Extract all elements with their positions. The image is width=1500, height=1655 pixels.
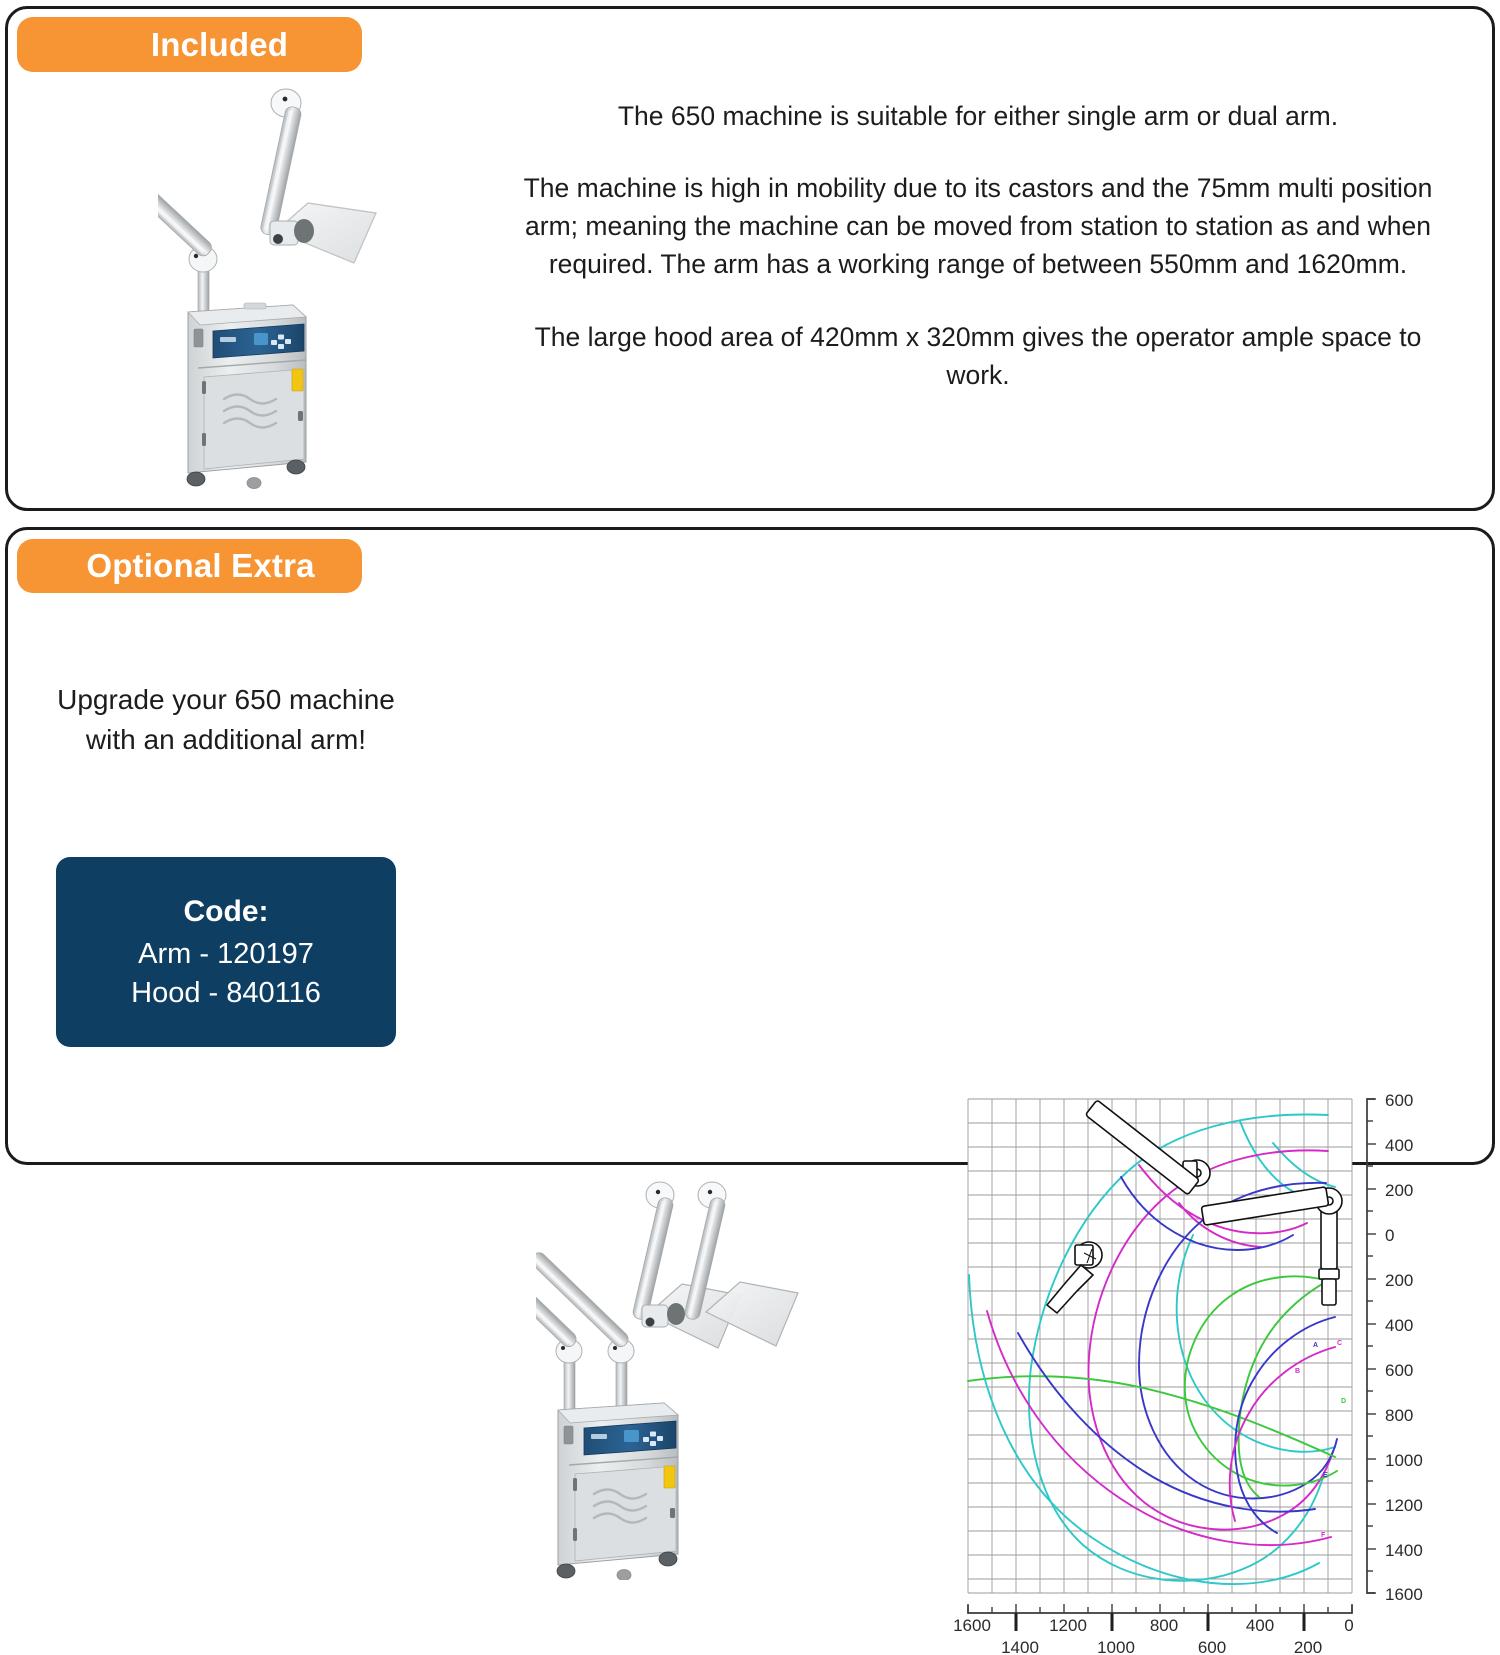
optional-extra-badge: Optional Extra: [17, 539, 362, 593]
svg-text:1600: 1600: [953, 1616, 991, 1635]
svg-text:1400: 1400: [1385, 1541, 1423, 1560]
included-paragraph-1: The 650 machine is suitable for either s…: [513, 97, 1443, 135]
optional-extra-panel: Optional Extra Upgrade your 650 machine …: [5, 527, 1495, 1165]
svg-text:1400: 1400: [1001, 1638, 1039, 1655]
x-axis-labels-lower: 1400 1000 600 200: [1001, 1638, 1322, 1655]
svg-text:800: 800: [1385, 1406, 1413, 1425]
curve-label-B: B: [1295, 1368, 1300, 1375]
single-arm-machine-image: [158, 81, 408, 496]
y-axis-labels: 600 400 200 0 200 400 600 800 1000 1200 …: [1385, 1091, 1423, 1604]
svg-text:1200: 1200: [1049, 1616, 1087, 1635]
svg-text:1200: 1200: [1385, 1496, 1423, 1515]
svg-text:400: 400: [1385, 1136, 1413, 1155]
curve-label-E: E: [1323, 1472, 1328, 1479]
svg-text:1600: 1600: [1385, 1585, 1423, 1604]
code-box-title: Code:: [184, 892, 269, 932]
included-description: The 650 machine is suitable for either s…: [513, 97, 1443, 394]
svg-text:200: 200: [1294, 1638, 1322, 1655]
dual-arm-machine-image: [536, 1162, 836, 1580]
svg-text:0: 0: [1385, 1226, 1394, 1245]
included-paragraph-2: The machine is high in mobility due to i…: [513, 169, 1443, 283]
svg-text:0: 0: [1344, 1616, 1353, 1635]
svg-text:800: 800: [1150, 1616, 1178, 1635]
x-axis-labels-upper: 1600 1200 800 400 0: [953, 1616, 1354, 1635]
svg-text:600: 600: [1385, 1091, 1413, 1110]
curve-label-D: D: [1341, 1398, 1346, 1405]
included-paragraph-3: The large hood area of 420mm x 320mm giv…: [513, 318, 1443, 394]
svg-text:200: 200: [1385, 1271, 1413, 1290]
svg-text:200: 200: [1385, 1181, 1413, 1200]
code-box-arm: Arm - 120197: [138, 935, 314, 974]
svg-text:600: 600: [1385, 1361, 1413, 1380]
included-badge: Included: [17, 17, 362, 72]
upgrade-description: Upgrade your 650 machine with an additio…: [56, 680, 396, 760]
svg-text:1000: 1000: [1385, 1451, 1423, 1470]
included-panel: Included: [5, 6, 1495, 511]
curve-label-C: C: [1337, 1340, 1342, 1347]
svg-text:400: 400: [1246, 1616, 1274, 1635]
svg-text:600: 600: [1198, 1638, 1226, 1655]
curve-label-F: F: [1321, 1532, 1326, 1539]
svg-text:400: 400: [1385, 1316, 1413, 1335]
svg-text:1000: 1000: [1097, 1638, 1135, 1655]
code-box-hood: Hood - 840116: [131, 974, 321, 1013]
curve-label-A: A: [1313, 1342, 1318, 1349]
product-code-box: Code: Arm - 120197 Hood - 840116: [56, 857, 396, 1047]
